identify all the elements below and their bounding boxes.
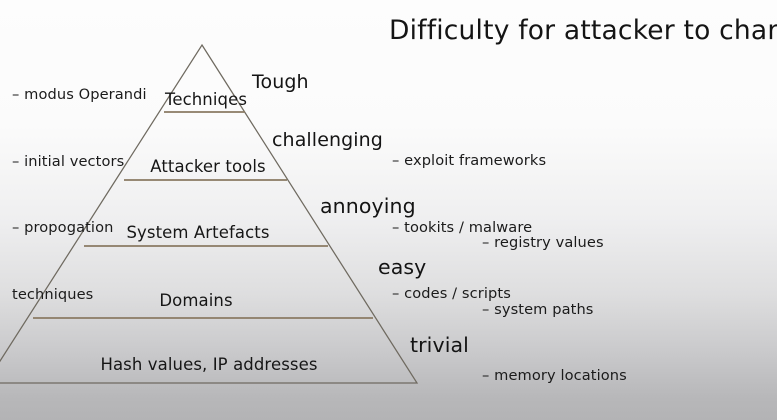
notes-techniques: – modus Operandi – initial vectors – pro… — [12, 40, 147, 350]
note-line: – propogation — [12, 217, 147, 239]
difficulty-label-challenging: challenging — [272, 128, 383, 153]
note-line: – modus Operandi — [12, 84, 147, 106]
tier-label-attacker-tools: Attacker tools — [150, 156, 266, 178]
note-line: – exploit frameworks — [392, 150, 546, 172]
tier-label-hash-values-ip-addresses: Hash values, IP addresses — [100, 354, 317, 376]
note-line: – initial vectors — [12, 151, 147, 173]
tier-label-domains: Domains — [159, 290, 232, 312]
tier-label-techniques: Techniqes — [165, 89, 247, 111]
note-line: – registry values — [482, 232, 627, 254]
note-line: – memory locations — [482, 365, 627, 387]
difficulty-label-tough: Tough — [252, 70, 309, 95]
diagram-title: Difficulty for attacker to change — [389, 14, 777, 49]
note-line: techniques — [12, 284, 147, 306]
note-line: – system paths — [482, 299, 627, 321]
tier-label-system-artefacts: System Artefacts — [126, 222, 269, 244]
notes-system-artefacts: – registry values – system paths – memor… — [482, 188, 627, 420]
pyramid-of-pain-diagram: Difficulty for attacker to change Techni… — [0, 0, 777, 420]
